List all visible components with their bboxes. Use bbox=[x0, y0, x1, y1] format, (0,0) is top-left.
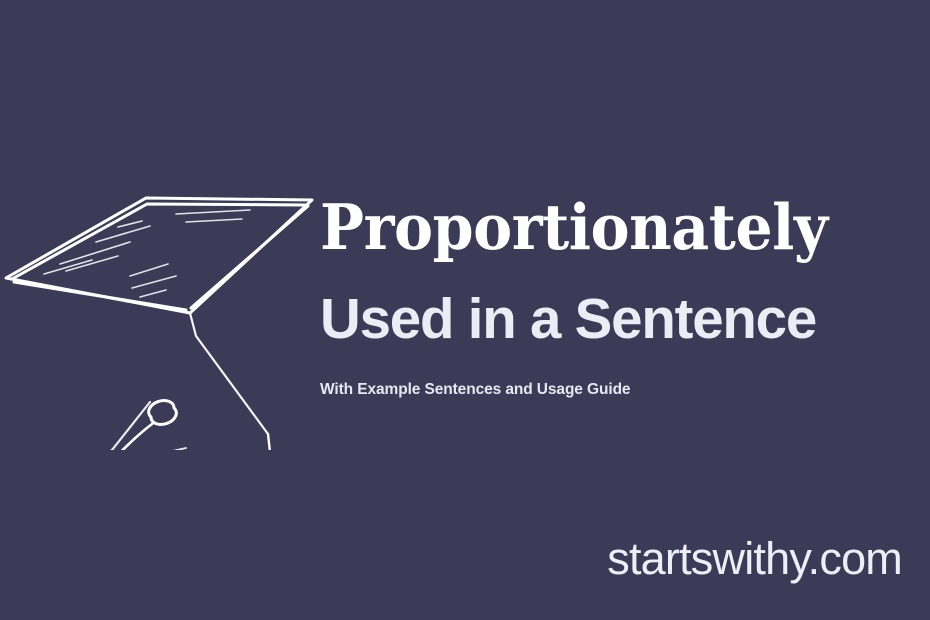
graduation-cap-icon bbox=[0, 178, 320, 450]
subtitle: With Example Sentences and Usage Guide bbox=[320, 380, 920, 400]
page-title: Proportionately bbox=[320, 190, 878, 264]
text-block: Proportionately Used in a Sentence With … bbox=[320, 190, 920, 400]
headline: Used in a Sentence bbox=[320, 286, 914, 352]
promo-card: Proportionately Used in a Sentence With … bbox=[0, 0, 930, 620]
brand-domain: startswithy.com bbox=[607, 533, 902, 585]
